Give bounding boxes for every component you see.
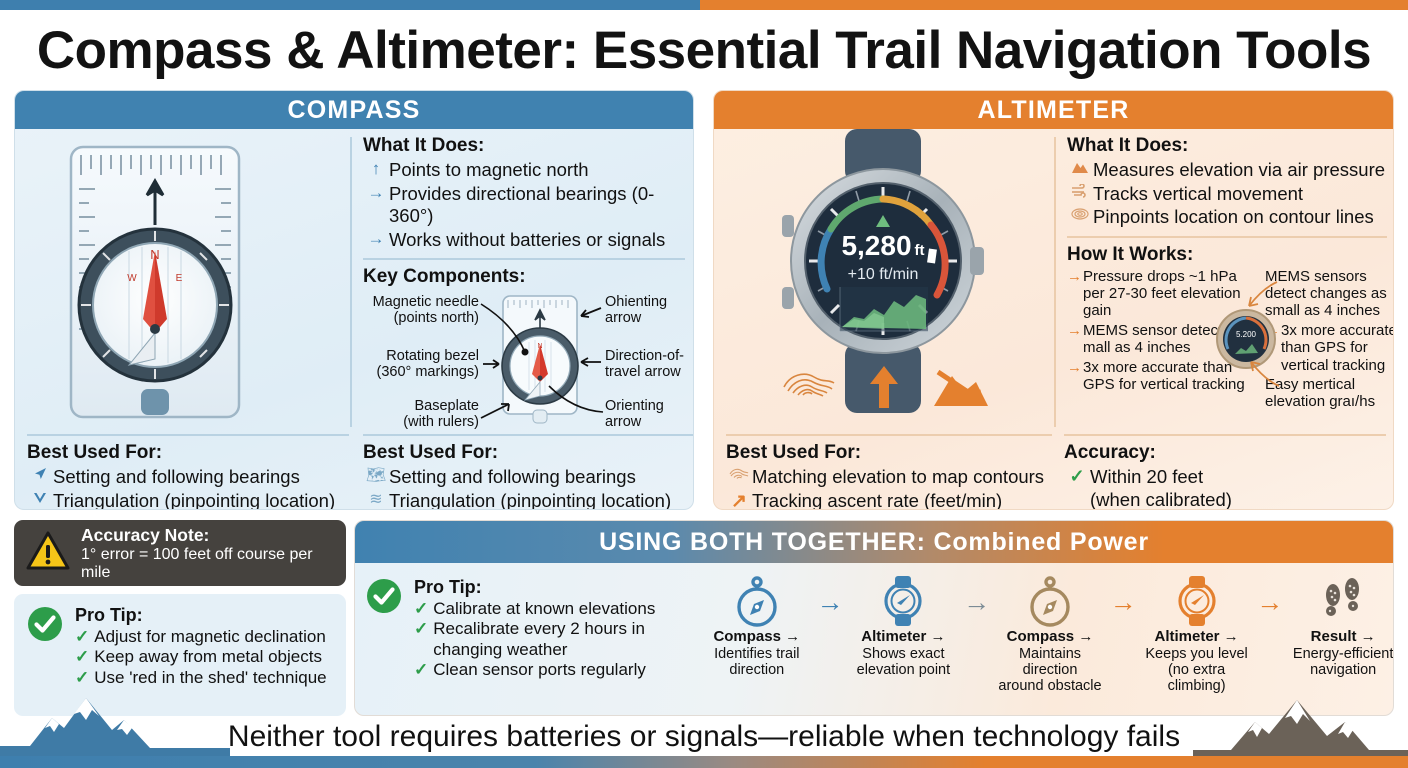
kc-line1: Rotating bezel bbox=[386, 348, 479, 364]
flow-step-desc: Identifies trail direction bbox=[705, 646, 809, 678]
compass-best-used-left-title: Best Used For: bbox=[27, 442, 349, 464]
pro-tip-compass-title: Pro Tip: bbox=[75, 605, 327, 626]
flow-step-title: Altimeter → bbox=[1145, 629, 1249, 646]
list-item: → Works without batteries or signals bbox=[363, 229, 685, 252]
mountain-icon bbox=[1067, 159, 1093, 180]
right-arrow-icon: → bbox=[1067, 322, 1083, 357]
list-item-label: Easy mertical elevation graı/hs bbox=[1265, 376, 1394, 411]
kc-line1: Ohienting bbox=[605, 294, 667, 310]
descent-chart-icon bbox=[930, 364, 992, 415]
kc-label-rotating-bezel: Rotating bezel (360° markings) bbox=[363, 348, 479, 380]
compass-what-it-does-title: What It Does: bbox=[363, 135, 685, 157]
list-item: Matching elevation to map contours bbox=[726, 466, 1052, 489]
check-icon: ✓ bbox=[75, 647, 89, 667]
right-arrow-icon: → bbox=[363, 183, 389, 204]
check-circle-icon bbox=[365, 577, 403, 681]
altimeter-accuracy-title: Accuracy: bbox=[1064, 442, 1386, 464]
divider bbox=[1067, 236, 1387, 238]
list-item-label: Provides directional bearings (0-360°) bbox=[389, 183, 685, 228]
altimeter-icon-row bbox=[766, 361, 1006, 417]
flow-step-title: Compass → bbox=[998, 629, 1102, 646]
check-icon: ✓ bbox=[75, 668, 89, 688]
flow-arrow-icon: → bbox=[955, 573, 998, 618]
compass-illustration: N W E bbox=[29, 133, 339, 433]
list-item-label: Matching elevation to map contours bbox=[752, 466, 1044, 489]
pro-tip-altimeter-card: Pro Tip: ✓ Calibrate at known elevations… bbox=[365, 577, 695, 681]
list-item: Measures elevation via air pressure bbox=[1067, 159, 1387, 182]
kc-line1: Magnetic needle bbox=[373, 294, 479, 310]
footprints-icon bbox=[1291, 573, 1394, 629]
list-item-label: Adjust for magnetic declination bbox=[94, 627, 326, 647]
flow-step-title: Result → bbox=[1291, 629, 1394, 646]
warning-triangle-icon bbox=[26, 531, 70, 576]
flow-step-desc: Energy-efficient navigation bbox=[1291, 646, 1394, 678]
altimeter-mini-dial: 5.200 bbox=[1215, 308, 1277, 375]
list-item: Setting and following bearings bbox=[27, 466, 349, 489]
kc-line2: (points north) bbox=[394, 310, 479, 326]
list-item-label: Clean sensor ports regularly bbox=[433, 660, 646, 680]
list-item-label: Setting and following bearings bbox=[53, 466, 300, 489]
combined-panel-header: USING BOTH TOGETHER: Combined Power bbox=[355, 521, 1393, 563]
list-item-label: Within 20 feet (when calibrated) bbox=[1090, 466, 1232, 510]
altimeter-accuracy-list: ✓ Within 20 feet (when calibrated) ✕ GPS… bbox=[1064, 466, 1386, 510]
list-item-label: Calibrate at known elevations bbox=[433, 599, 655, 619]
top-accent-orange bbox=[700, 0, 1408, 10]
flow-step-desc: Shows exact elevation point bbox=[852, 646, 956, 678]
flow-step-compass-1: Compass → Identifies trail direction bbox=[705, 573, 809, 678]
check-icon: ✓ bbox=[1064, 466, 1090, 488]
top-accent-bar bbox=[0, 0, 1408, 10]
footer-text: Neither tool requires batteries or signa… bbox=[0, 720, 1408, 754]
kc-line1: Direction-of- bbox=[605, 348, 684, 364]
flow-arrow-icon: → bbox=[809, 573, 852, 618]
list-item: Tracks vertical movement bbox=[1067, 183, 1387, 206]
altimeter-panel-header: ALTIMETER bbox=[714, 91, 1393, 129]
ascent-arrow-icon: ↗ bbox=[726, 490, 752, 510]
compass-best-used-right-list: 🗺 Setting and following bearings ≋ Trian… bbox=[363, 466, 693, 510]
list-item: ✓ Adjust for magnetic declination bbox=[75, 627, 327, 647]
list-item: → Provides directional bearings (0-360°) bbox=[363, 183, 685, 228]
list-item-label: Measures elevation via air pressure bbox=[1093, 159, 1385, 182]
compass-panel-body: N W E What It Does: ↑ Points to magnetic… bbox=[15, 129, 693, 510]
up-arrow-icon bbox=[867, 364, 901, 415]
compass-what-it-does-list: ↑ Points to magnetic north → Provides di… bbox=[363, 159, 685, 251]
pro-tip-altimeter-body: Pro Tip: ✓ Calibrate at known elevations… bbox=[414, 577, 695, 681]
kc-label-direction-of-travel-arrow: Direction-of- travel arrow bbox=[605, 348, 694, 380]
pro-tip-altimeter-title: Pro Tip: bbox=[414, 577, 695, 598]
flow-step-altimeter-1: Altimeter → Shows exact elevation point bbox=[852, 573, 956, 678]
compass-panel-header: COMPASS bbox=[15, 91, 693, 129]
kc-label-ohienting-arrow: Ohienting arrow bbox=[605, 294, 694, 326]
divider bbox=[363, 434, 693, 436]
contour-lines-icon bbox=[726, 466, 752, 487]
altimeter-what-it-does-title: What It Does: bbox=[1067, 135, 1387, 157]
kc-line1: Orienting bbox=[605, 398, 664, 414]
divider bbox=[1064, 434, 1386, 436]
compass-key-components-title: Key Components: bbox=[363, 266, 685, 288]
navigation-arrow-icon bbox=[27, 466, 53, 488]
list-item-label: MEMS sensors detect changes as small as … bbox=[1265, 268, 1394, 320]
right-arrow-icon: → bbox=[363, 229, 389, 250]
wind-icon bbox=[1067, 183, 1093, 204]
right-arrow-icon: → bbox=[1067, 359, 1083, 394]
list-item: ↗ Tracking ascent rate (feet/min) bbox=[726, 490, 1052, 510]
list-item-label: Triangulation (pinpointing location) bbox=[389, 490, 671, 510]
list-item: ✓ Clean sensor ports regularly bbox=[414, 660, 695, 680]
how-it-works-right-column: MEMS sensors detect changes as small as … bbox=[1265, 268, 1394, 413]
watch-icon bbox=[1145, 573, 1249, 629]
list-item-label: Use 'red in the shed' technique bbox=[94, 668, 326, 688]
compass-key-components-diagram: N Magnetic needle ( bbox=[363, 290, 694, 440]
list-item: ✓ Calibrate at known elevations bbox=[414, 599, 695, 619]
altimeter-best-used-title: Best Used For: bbox=[726, 442, 1052, 464]
flow-step-altimeter-2: Altimeter → Keeps you level (no extra cl… bbox=[1145, 573, 1249, 694]
list-item: ↑ Points to magnetic north bbox=[363, 159, 685, 182]
list-item: ✓ Within 20 feet (when calibrated) bbox=[1064, 466, 1386, 510]
right-arrow-icon: → bbox=[1067, 268, 1083, 320]
top-accent-blue bbox=[0, 0, 700, 10]
check-icon: ✓ bbox=[75, 627, 89, 647]
page-title: Compass & Altimeter: Essential Trail Nav… bbox=[0, 20, 1408, 81]
altimeter-how-it-works-title: How It Works: bbox=[1067, 244, 1387, 266]
list-item: MEMS sensors detect changes as small as … bbox=[1265, 268, 1394, 320]
divider bbox=[27, 434, 349, 436]
altimeter-how-it-works-diagram: → Pressure drops ~1 hPa per 27-30 feet e… bbox=[1067, 268, 1387, 410]
combined-flow: Compass → Identifies trail direction → A… bbox=[705, 573, 1394, 713]
watch-elevation-unit: ft bbox=[915, 242, 925, 259]
chevron-down-icon bbox=[27, 490, 53, 510]
compass-best-used-right-title: Best Used For: bbox=[363, 442, 693, 464]
kc-label-baseplate: Baseplate (with rulers) bbox=[363, 398, 479, 430]
list-item-label: Pinpoints location on contour lines bbox=[1093, 206, 1374, 229]
accuracy-line1: Within 20 feet bbox=[1090, 466, 1203, 487]
list-item: ✓ Use 'red in the shed' technique bbox=[75, 668, 327, 688]
wind-icon: ≋ bbox=[363, 490, 389, 510]
list-item-label: Triangulation (pinpointing location) bbox=[53, 490, 335, 510]
list-item-label: Tracks vertical movement bbox=[1093, 183, 1303, 206]
accuracy-note-title: Accuracy Note: bbox=[81, 525, 334, 546]
flow-step-compass-2: Compass → Maintains direction around obs… bbox=[998, 573, 1102, 694]
watch-rate-value: +10 ft/min bbox=[848, 266, 919, 283]
list-item-label: Tracking ascent rate (feet/min) bbox=[752, 490, 1002, 510]
list-item: 🗺 Setting and following bearings bbox=[363, 466, 693, 489]
accuracy-note-text: Accuracy Note: 1° error = 100 feet off c… bbox=[81, 525, 334, 582]
flow-step-result: Result → Energy-efficient navigation bbox=[1291, 573, 1394, 678]
divider bbox=[726, 434, 1052, 436]
accuracy-note-subtitle: 1° error = 100 feet off course per mile bbox=[81, 546, 334, 582]
list-item-label: Setting and following bearings bbox=[389, 466, 636, 489]
contour-lines-icon bbox=[780, 365, 838, 414]
list-item: ← 3x more accurate than GPS for vertical… bbox=[1265, 322, 1394, 374]
compass-icon bbox=[705, 573, 809, 629]
list-item: Easy mertical elevation graı/hs bbox=[1265, 376, 1394, 411]
flow-step-desc: Maintains direction around obstacle bbox=[998, 646, 1102, 695]
combined-panel: USING BOTH TOGETHER: Combined Power Pro … bbox=[354, 520, 1394, 716]
accuracy-note-card: Accuracy Note: 1° error = 100 feet off c… bbox=[14, 520, 346, 586]
list-item-label: Points to magnetic north bbox=[389, 159, 589, 182]
accuracy-line2: (when calibrated) bbox=[1090, 489, 1232, 510]
flow-step-title: Compass → bbox=[705, 629, 809, 646]
kc-line1: Baseplate bbox=[415, 398, 480, 414]
altimeter-what-it-does-list: Measures elevation via air pressure Trac… bbox=[1067, 159, 1387, 229]
svg-text:E: E bbox=[176, 273, 183, 284]
kc-label-orienting-arrow: Orienting arrow bbox=[605, 398, 694, 430]
altimeter-best-used-list: Matching elevation to map contours ↗ Tra… bbox=[726, 466, 1052, 510]
check-icon: ✓ bbox=[414, 660, 428, 680]
list-item: ≋ Triangulation (pinpointing location) bbox=[363, 490, 693, 510]
mini-dial-value: 5.200 bbox=[1236, 330, 1257, 339]
list-item: ✓ Keep away from metal objects bbox=[75, 647, 327, 667]
list-item-label: Works without batteries or signals bbox=[389, 229, 665, 252]
list-item: Pinpoints location on contour lines bbox=[1067, 206, 1387, 229]
list-item: ✓ Recalibrate every 2 hours in changing … bbox=[414, 619, 695, 660]
list-item-label: Recalibrate every 2 hours in changing we… bbox=[433, 619, 695, 660]
flow-step-title: Altimeter → bbox=[852, 629, 956, 646]
list-item: Triangulation (pinpointing location) bbox=[27, 490, 349, 510]
kc-line2: travel arrow bbox=[605, 364, 681, 380]
altimeter-panel-body: 5,280ft +10 ft/min bbox=[714, 129, 1393, 510]
svg-text:W: W bbox=[127, 273, 137, 284]
compass-best-used-left-list: Setting and following bearings Triangula… bbox=[27, 466, 349, 510]
up-arrow-icon: ↑ bbox=[363, 159, 389, 180]
flow-arrow-icon: → bbox=[1248, 573, 1291, 618]
watch-elevation-value: 5,280 bbox=[841, 230, 911, 261]
contour-lines-icon bbox=[1067, 206, 1093, 227]
check-icon: ✓ bbox=[414, 599, 428, 619]
compass-icon bbox=[998, 573, 1102, 629]
compass-panel: COMPASS bbox=[14, 90, 694, 510]
list-item-label: 3x more accurate than GPS for vertical t… bbox=[1281, 322, 1394, 374]
kc-line2: arrow bbox=[605, 310, 641, 326]
flow-step-desc: Keeps you level (no extra climbing) bbox=[1145, 646, 1249, 695]
watch-icon bbox=[852, 573, 956, 629]
map-icon: 🗺 bbox=[363, 466, 389, 486]
altimeter-panel: ALTIMETER bbox=[713, 90, 1394, 510]
bottom-accent-bar bbox=[0, 756, 1408, 768]
flow-arrow-icon: → bbox=[1102, 573, 1145, 618]
kc-line2: (360° markings) bbox=[377, 364, 480, 380]
list-item-label: Keep away from metal objects bbox=[94, 647, 322, 667]
divider bbox=[363, 258, 685, 260]
check-icon: ✓ bbox=[414, 619, 428, 660]
kc-label-magnetic-needle: Magnetic needle (points north) bbox=[363, 294, 479, 326]
